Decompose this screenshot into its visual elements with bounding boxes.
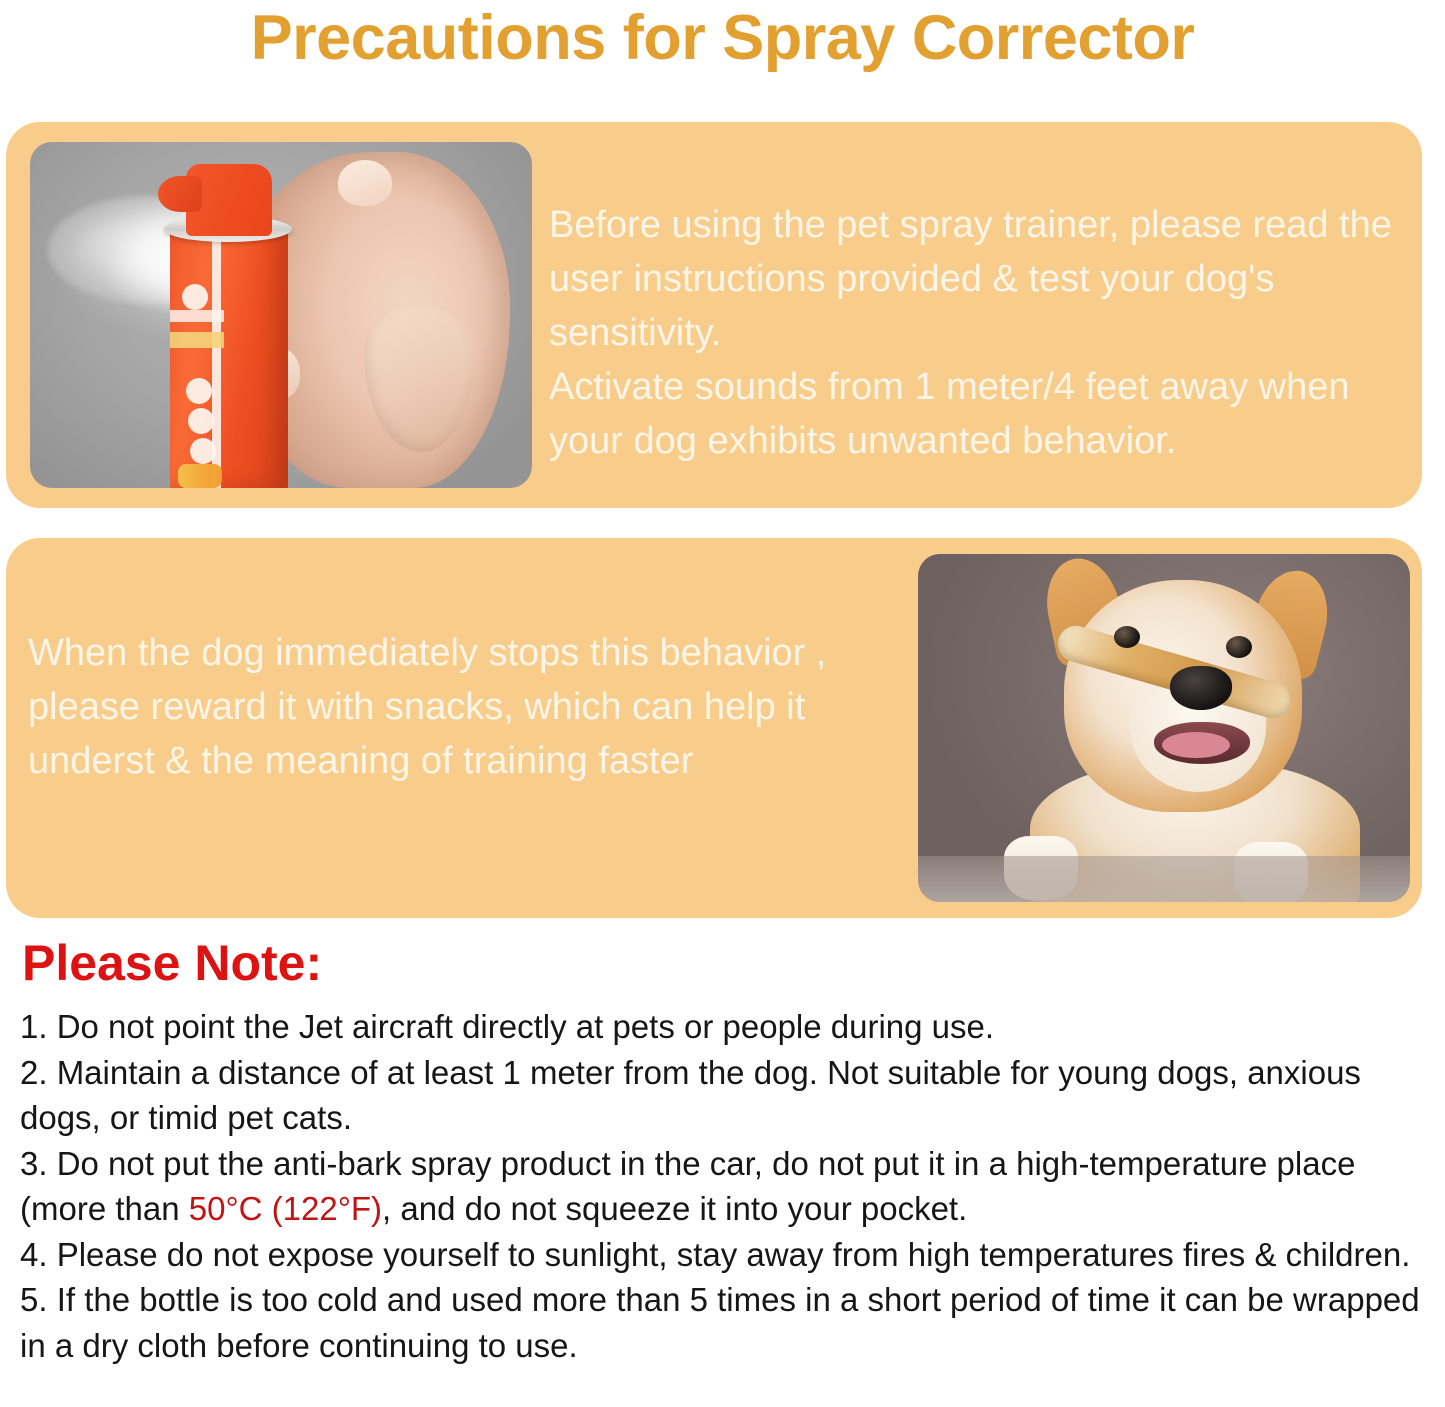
warning-badge-icon xyxy=(182,284,208,310)
precaution-panel-1: Before using the pet spray trainer, plea… xyxy=(6,122,1422,508)
precaution-panel-1-text: Before using the pet spray trainer, plea… xyxy=(549,198,1409,468)
can-logo-mark xyxy=(178,464,222,488)
can-label-band xyxy=(170,310,224,322)
spray-nozzle xyxy=(158,176,202,212)
dog-eye-shape xyxy=(1114,626,1140,648)
warning-badge-icon xyxy=(188,408,214,434)
fingernail-shape xyxy=(338,160,392,206)
page-title: Precautions for Spray Corrector xyxy=(0,0,1445,80)
thumb-shape xyxy=(364,302,474,452)
temperature-highlight: 50°C (122°F) xyxy=(189,1190,382,1227)
dog-eye-shape xyxy=(1226,636,1252,658)
note-item: 2. Maintain a distance of at least 1 met… xyxy=(20,1050,1432,1141)
note-item: 4. Please do not expose yourself to sunl… xyxy=(20,1232,1432,1278)
note-item: 3. Do not put the anti-bark spray produc… xyxy=(20,1141,1432,1232)
warning-badge-icon xyxy=(190,438,216,464)
note-item: 1. Do not point the Jet aircraft directl… xyxy=(20,1004,1432,1050)
dog-nose-shape xyxy=(1170,666,1232,710)
corgi-with-treat-photo xyxy=(918,554,1410,902)
dog-tongue-shape xyxy=(1162,732,1230,758)
note-item: 5. If the bottle is too cold and used mo… xyxy=(20,1277,1432,1368)
can-label-band xyxy=(170,332,224,348)
precaution-panel-2: When the dog immediately stops this beha… xyxy=(6,538,1422,918)
warning-badge-icon xyxy=(186,378,212,404)
studio-floor-shape xyxy=(918,856,1410,902)
spray-can-body xyxy=(170,228,288,488)
hand-holding-spray-can-photo xyxy=(30,142,532,488)
note-list: 1. Do not point the Jet aircraft directl… xyxy=(20,1004,1432,1368)
note-heading: Please Note: xyxy=(22,932,322,994)
precaution-panel-2-text: When the dog immediately stops this beha… xyxy=(28,626,898,788)
